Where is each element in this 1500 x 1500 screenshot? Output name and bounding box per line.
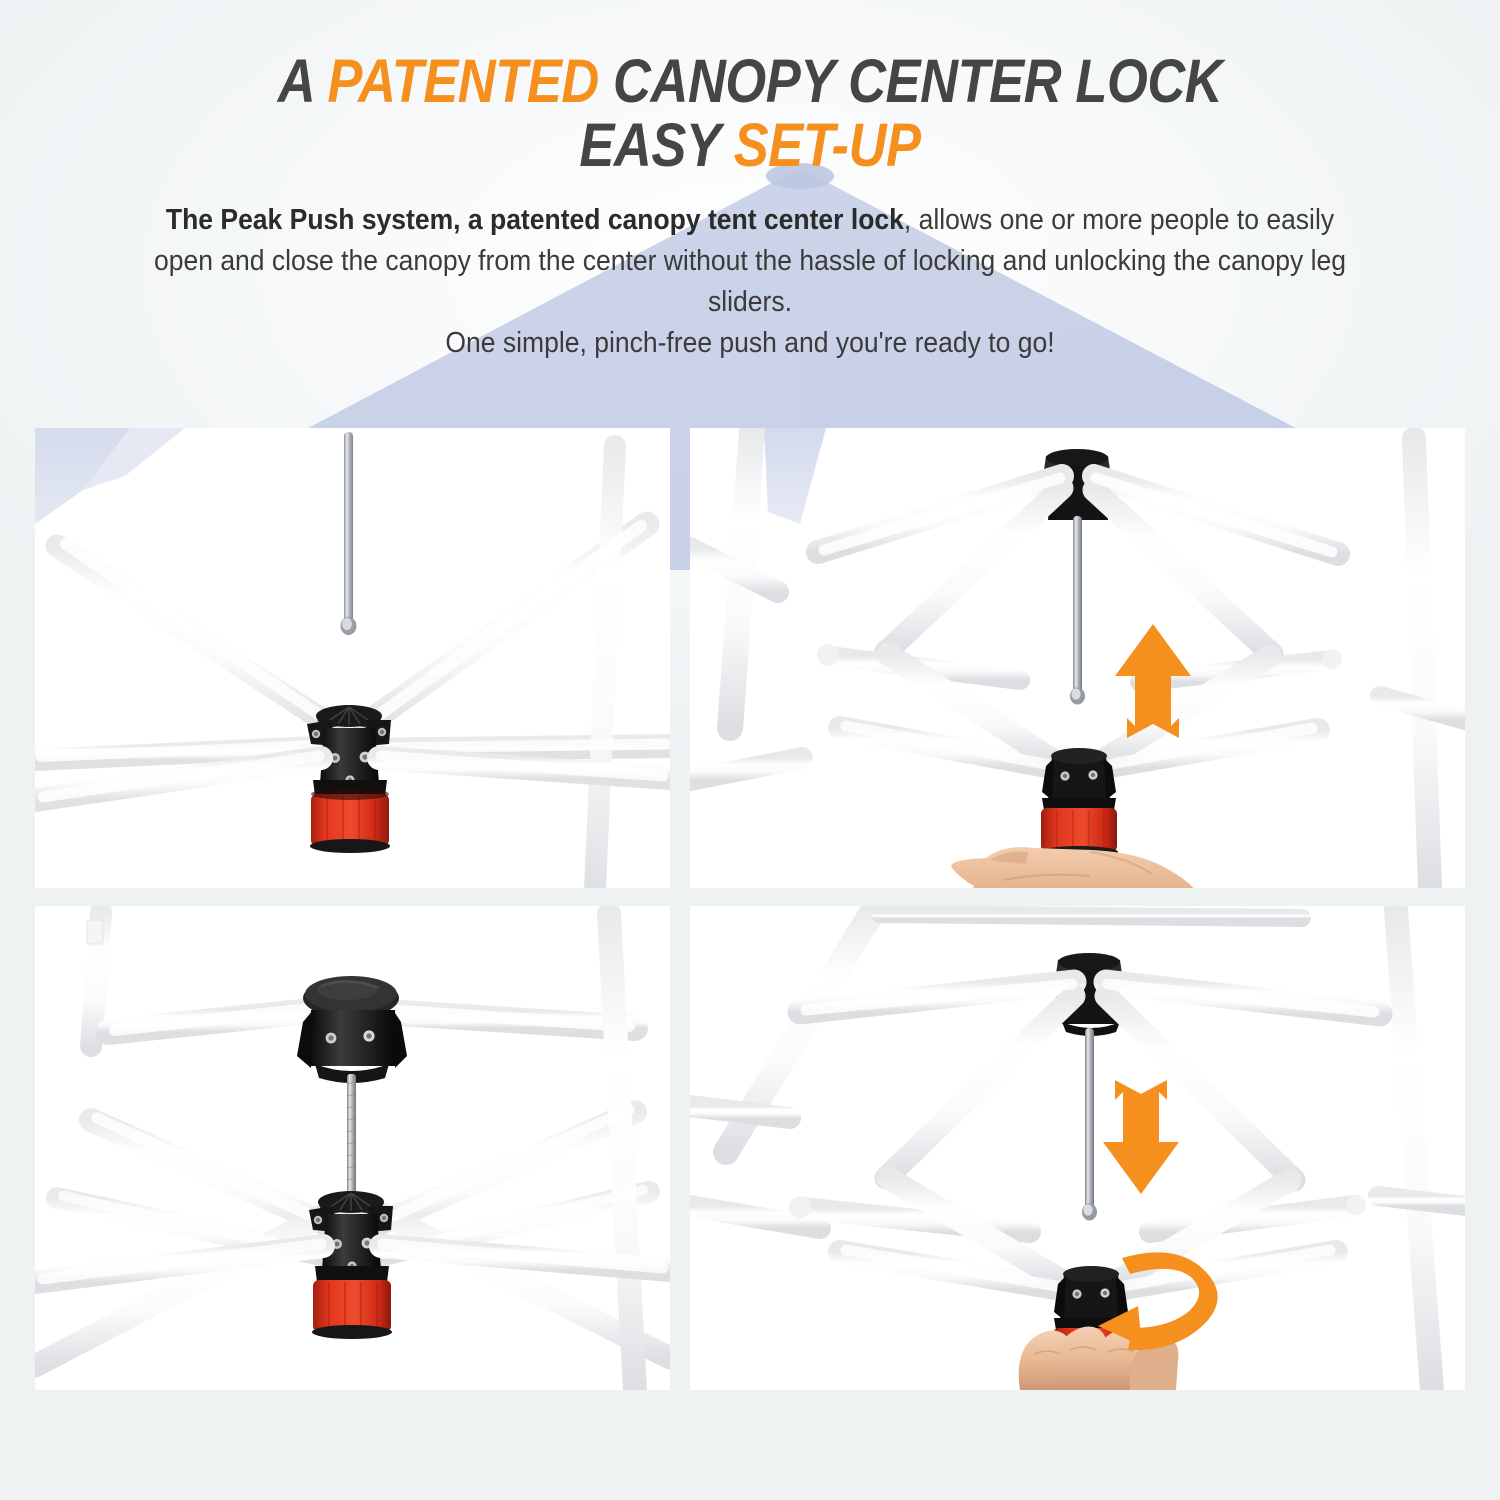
subtitle-bold-phrase: The Peak Push system, a patented canopy … [166,204,904,236]
page-title: A PATENTED CANOPY CENTER LOCK EASY SET-U… [105,52,1395,174]
header: A PATENTED CANOPY CENTER LOCK EASY SET-U… [0,0,1500,364]
subtitle-paragraph: The Peak Push system, a patented canopy … [141,200,1359,364]
panel-4-photo [690,906,1465,1390]
title-text-c: EASY [579,111,733,179]
panel-grid [35,428,1465,1390]
panel-center-lock-closeup [35,428,670,888]
panel-twist-release-step [690,906,1465,1390]
panel-locked-position [35,906,670,1390]
title-text-b: CANOPY CENTER LOCK [599,47,1222,115]
center-lock-hub-lower [1040,748,1118,858]
panel-2-photo [690,428,1465,888]
panel-3-photo [35,906,670,1390]
title-highlight-setup: SET-UP [734,111,921,179]
title-highlight-patented: PATENTED [327,47,598,115]
title-line-2: EASY SET-UP [105,116,1395,174]
title-text-a: A [278,47,328,115]
panel-1-photo [35,428,670,888]
panel-push-up-step [690,428,1465,888]
title-line-1: A PATENTED CANOPY CENTER LOCK [278,47,1223,115]
subtitle-closing-line: One simple, pinch-free push and you're r… [445,327,1054,359]
